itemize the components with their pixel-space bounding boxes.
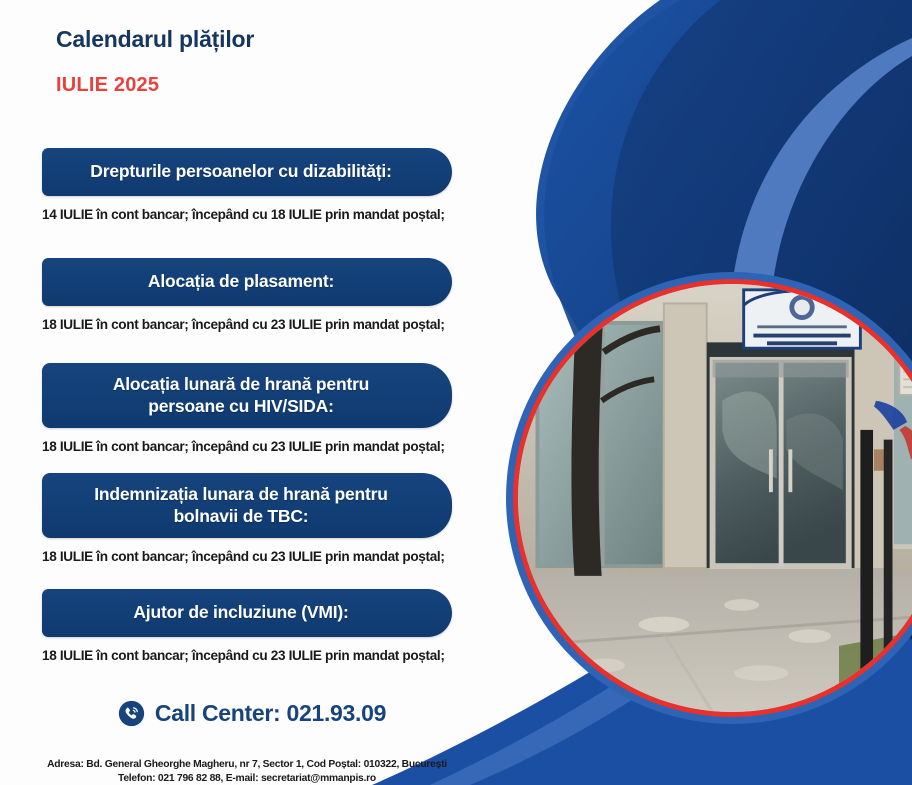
benefit-pill-label: Alocația de plasament:	[148, 271, 334, 291]
payment-date-note: 18 IULIE în cont bancar; începând cu 23 …	[42, 439, 452, 454]
page-title: Calendarul plăților	[56, 26, 254, 53]
benefit-pill[interactable]: Alocația lunară de hrană pentru persoane…	[42, 363, 452, 428]
call-center-block[interactable]: Call Center: 021.93.09	[42, 700, 462, 727]
benefit-pill-label: Indemnizația lunara de hrană pentru	[94, 484, 387, 504]
footer-contact-line: Telefon: 021 796 82 88, E-mail: secretar…	[22, 772, 472, 785]
footer-contact: Adresa: Bd. General Gheorghe Magheru, nr…	[22, 758, 472, 785]
benefit-pill[interactable]: Ajutor de incluziune (VMI):	[42, 589, 452, 637]
payment-date-note: 14 IULIE în cont bancar; începând cu 18 …	[42, 207, 452, 222]
benefit-pill[interactable]: Drepturile persoanelor cu dizabilități:	[42, 148, 452, 196]
benefit-pill-label: Drepturile persoanelor cu dizabilități:	[90, 161, 391, 181]
call-center-label: Call Center: 021.93.09	[155, 700, 386, 727]
footer-address: Adresa: Bd. General Gheorghe Magheru, nr…	[22, 758, 472, 772]
benefit-pill-label-line2: bolnavii de TBC:	[174, 506, 309, 526]
page-subtitle-month: IULIE 2025	[56, 74, 159, 97]
photo-circle-frame	[506, 272, 912, 724]
payment-date-note: 18 IULIE în cont bancar; începând cu 23 …	[42, 549, 452, 564]
poster-canvas: Calendarul plăților IULIE 2025 Drepturil…	[0, 0, 912, 785]
payment-section: Alocația de plasament: 18 IULIE în cont …	[42, 258, 452, 332]
photo-red-ring	[513, 279, 912, 717]
payment-section: Alocația lunară de hrană pentru persoane…	[42, 363, 452, 454]
payment-section: Drepturile persoanelor cu dizabilități: …	[42, 148, 452, 222]
benefit-pill-label: Alocația lunară de hrană pentru	[113, 374, 369, 394]
payment-section: Ajutor de incluziune (VMI): 18 IULIE în …	[42, 589, 452, 663]
phone-call-icon	[118, 700, 145, 727]
payment-section: Indemnizația lunara de hrană pentru boln…	[42, 473, 452, 564]
benefit-pill-label-line2: persoane cu HIV/SIDA:	[148, 396, 333, 416]
benefit-pill[interactable]: Alocația de plasament:	[42, 258, 452, 306]
building-sign	[744, 290, 861, 348]
benefit-pill[interactable]: Indemnizația lunara de hrană pentru boln…	[42, 473, 452, 538]
benefit-pill-label: Ajutor de incluziune (VMI):	[133, 602, 348, 622]
payment-date-note: 18 IULIE în cont bancar; începând cu 23 …	[42, 317, 452, 332]
payment-date-note: 18 IULIE în cont bancar; începând cu 23 …	[42, 648, 452, 663]
building-entrance-photo	[518, 284, 912, 712]
